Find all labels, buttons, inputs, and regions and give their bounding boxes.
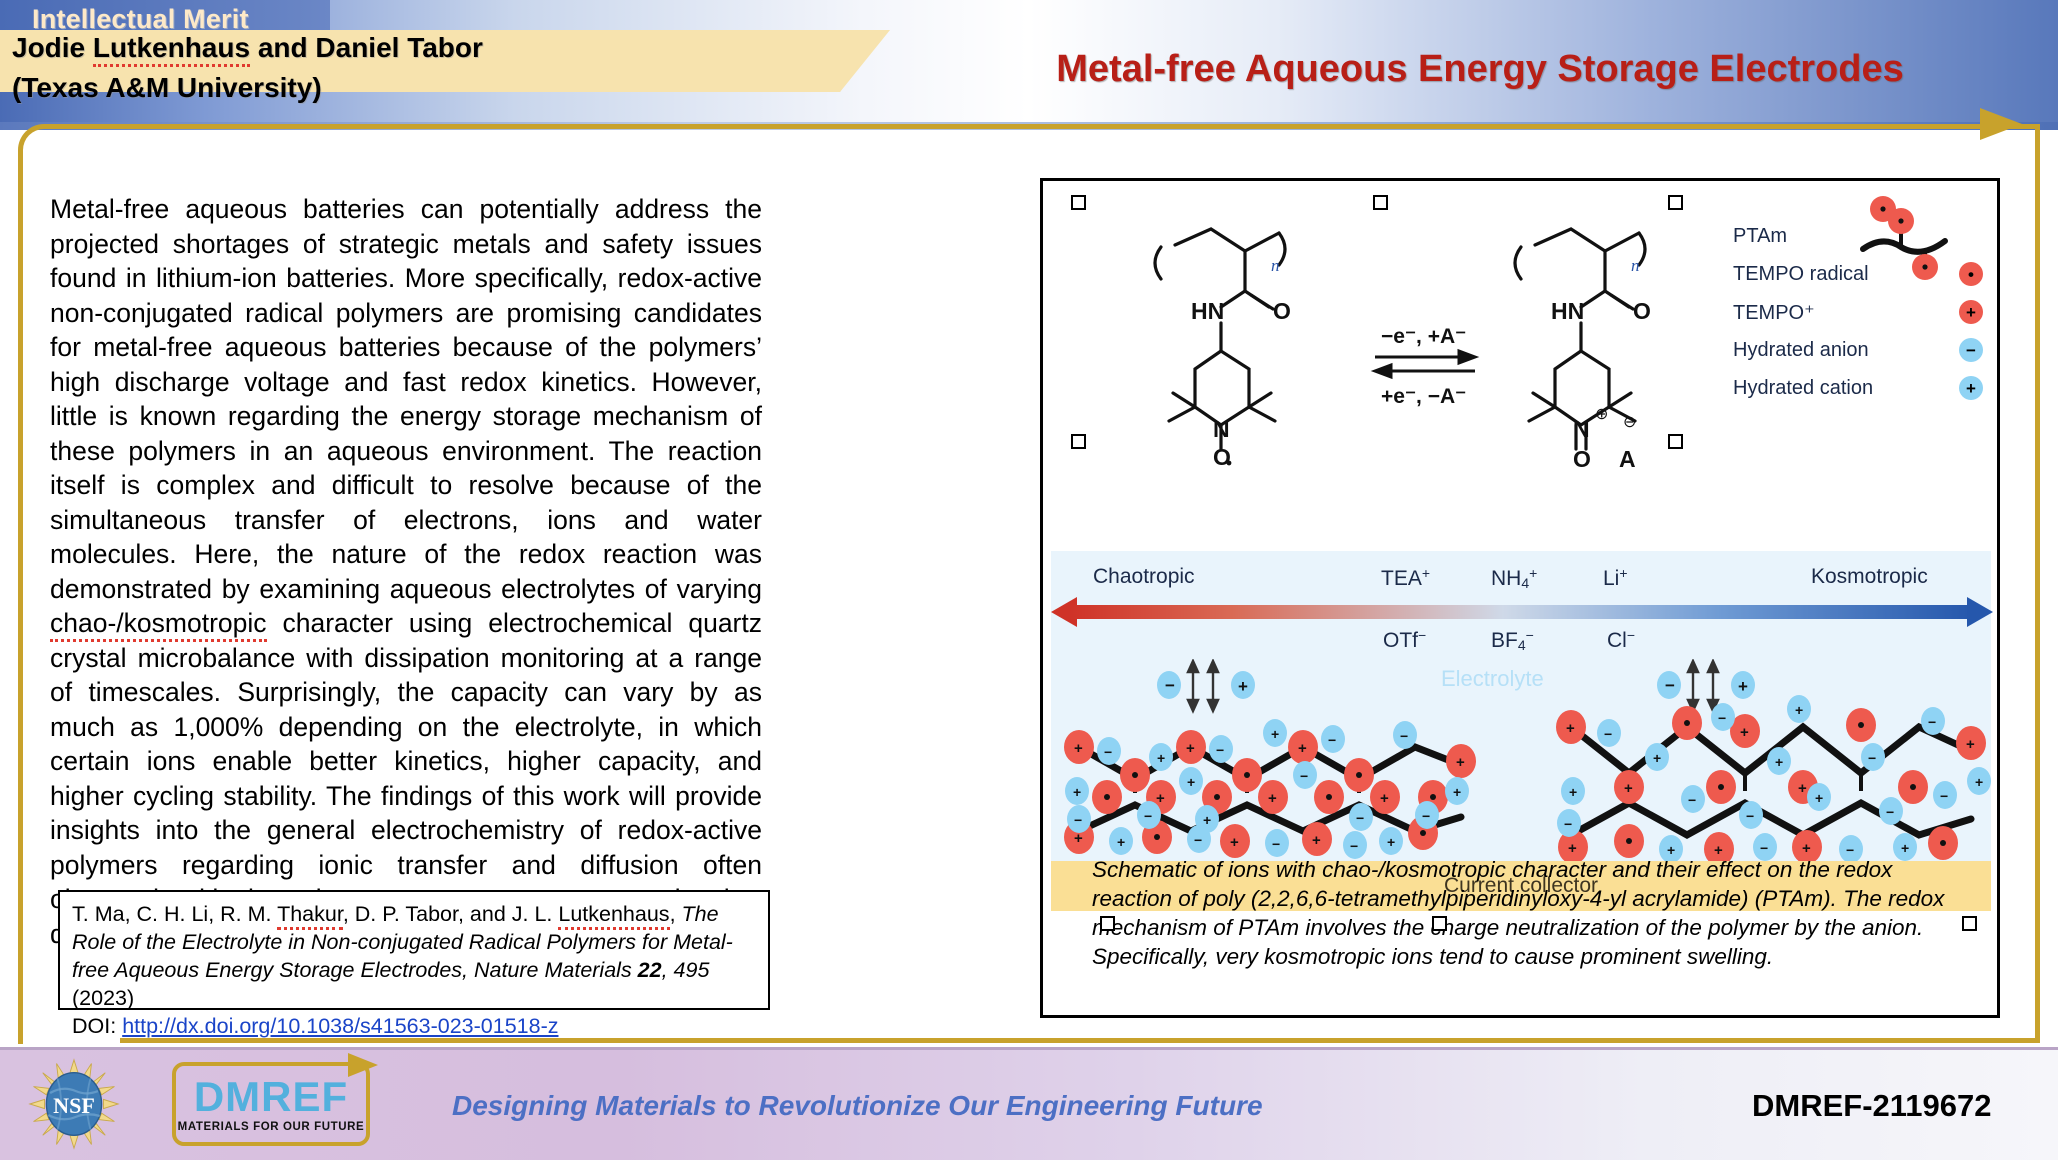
svg-text:+: +: [1156, 790, 1165, 807]
legend-label-hydrated-cation: Hydrated cation: [1733, 377, 1873, 400]
svg-text:−: −: [1760, 840, 1768, 856]
svg-text:O: O: [1213, 444, 1231, 470]
caption-handle-right[interactable]: [1962, 916, 1977, 931]
nsf-logo-icon: NSF: [28, 1058, 120, 1150]
caption-handle-center[interactable]: [1432, 916, 1447, 931]
cation-li: Li+: [1603, 565, 1628, 591]
svg-text:−: −: [1074, 812, 1082, 828]
svg-text:O: O: [1633, 298, 1651, 324]
svg-text:+: +: [1566, 720, 1575, 737]
legend-item-hydrated-cation: Hydrated cation +: [1733, 369, 1983, 407]
svg-text:+: +: [1073, 784, 1081, 800]
svg-text:+: +: [1798, 780, 1807, 797]
cation-tea: TEA+: [1381, 565, 1430, 591]
svg-text:HN: HN: [1551, 298, 1584, 324]
svg-text:+: +: [1795, 702, 1803, 718]
svg-text:+: +: [1387, 834, 1395, 850]
svg-text:−: −: [1688, 792, 1696, 808]
doi-link[interactable]: http://dx.doi.org/10.1038/s41563-023-015…: [122, 1014, 558, 1038]
svg-text:−: −: [1746, 808, 1754, 824]
kosmotropic-arrowhead-icon: [1967, 597, 1993, 627]
polymer-film-kosmotropic: + + + + + + + + − −: [1551, 691, 1991, 866]
svg-text:−: −: [1564, 816, 1572, 832]
svg-text:−: −: [1216, 742, 1224, 758]
svg-text:−: −: [1604, 726, 1612, 742]
figure-caption: Schematic of ions with chao-/kosmotropic…: [1092, 855, 1972, 971]
dmref-arrow-icon: [348, 1053, 378, 1077]
frame-arrow-icon: [1980, 108, 2022, 140]
svg-text:+: +: [1230, 834, 1239, 851]
legend-item-hydrated-anion: Hydrated anion −: [1733, 331, 1983, 369]
svg-text:n: n: [1271, 256, 1280, 275]
svg-text:−: −: [1940, 788, 1948, 804]
svg-text:NSF: NSF: [53, 1093, 95, 1118]
legend-label-hydrated-anion: Hydrated anion: [1733, 339, 1869, 362]
svg-text:O: O: [1573, 446, 1591, 471]
abstract-paragraph: Metal-free aqueous batteries can potenti…: [50, 192, 762, 951]
legend-label-tempo-cation: TEMPO⁺: [1733, 300, 1815, 325]
svg-text:+: +: [1268, 790, 1277, 807]
svg-text:+: +: [1238, 677, 1248, 696]
svg-text:−: −: [1400, 728, 1408, 744]
svg-text:−: −: [1104, 744, 1112, 760]
footer-divider: [0, 1047, 2058, 1050]
svg-text:+: +: [1815, 790, 1823, 806]
svg-text:+: +: [1975, 774, 1983, 790]
svg-text:+: +: [1453, 784, 1461, 800]
svg-text:−: −: [1272, 836, 1280, 852]
caption-handle-left[interactable]: [1100, 916, 1115, 931]
dmref-logo: DMREF MATERIALS FOR OUR FUTURE: [172, 1062, 370, 1146]
svg-text:−: −: [1718, 710, 1726, 726]
svg-text:+: +: [1117, 834, 1125, 850]
anion-bf4: BF4−: [1491, 627, 1534, 653]
legend-item-tempo-cation: TEMPO⁺ +: [1733, 293, 1983, 331]
svg-text:−: −: [1350, 838, 1358, 854]
legend-item-ptam: PTAm: [1733, 217, 1983, 255]
svg-text:+: +: [1653, 750, 1661, 766]
svg-text:O: O: [1273, 298, 1291, 324]
svg-text:+: +: [1775, 754, 1783, 770]
svg-text:+: +: [1186, 740, 1195, 757]
polymer-film-chaotropic: + + + + + + + + + +: [1061, 713, 1481, 863]
svg-text:N: N: [1573, 416, 1590, 442]
svg-text:+: +: [1740, 724, 1749, 741]
svg-text:⊖: ⊖: [1623, 414, 1636, 431]
cation-nh4: NH4+: [1491, 565, 1537, 591]
svg-text:N: N: [1213, 416, 1230, 442]
chaotropic-axis: Chaotropic Kosmotropic TEA+ NH4+ Li+ OTf…: [1051, 561, 1991, 647]
svg-text:+: +: [1203, 812, 1211, 828]
red-radical-dot-icon: •: [1959, 262, 1983, 286]
dmref-wordmark: DMREF: [194, 1076, 348, 1118]
svg-text:−: −: [1356, 810, 1364, 826]
svg-text:−: −: [1886, 804, 1894, 820]
figure-legend: PTAm TEMPO radical • TEMPO⁺ + Hydr: [1733, 217, 1983, 407]
svg-text:+: +: [1157, 750, 1165, 766]
svg-text:−: −: [1328, 732, 1336, 748]
svg-text:n: n: [1631, 256, 1640, 275]
svg-text:−: −: [1300, 768, 1308, 784]
author-affiliation-line2: (Texas A&M University): [12, 72, 322, 104]
legend-label-ptam: PTAm: [1733, 225, 1787, 248]
selection-handle-mid-left[interactable]: [1071, 434, 1086, 449]
kosmotropic-label: Kosmotropic: [1811, 565, 1928, 589]
svg-text:−: −: [1868, 750, 1876, 766]
svg-text:−: −: [1928, 714, 1936, 730]
svg-text:−: −: [1194, 832, 1202, 848]
content-frame-right: [2035, 124, 2040, 1042]
svg-text:+: +: [1074, 740, 1083, 757]
chao-kosmo-gradient-bar: [1069, 605, 1973, 619]
svg-text:A: A: [1619, 446, 1636, 471]
selection-handle-top-left[interactable]: [1071, 195, 1086, 210]
svg-text:+: +: [1966, 736, 1975, 753]
doi-line: DOI: http://dx.doi.org/10.1038/s41563-02…: [72, 1012, 758, 1040]
svg-text:+: +: [1901, 840, 1909, 856]
footer-slogan: Designing Materials to Revolutionize Our…: [452, 1090, 1263, 1122]
svg-text:+: +: [1456, 754, 1465, 771]
caption-rest: reaction of poly (2,2,6,6-tetramethylpip…: [1092, 886, 1944, 969]
svg-text:+: +: [1624, 780, 1633, 797]
redox-scheme-diagram: n HN O N O −e⁻, +A⁻ +e⁻, −A⁻: [1103, 211, 1723, 471]
svg-text:−e⁻, +A⁻: −e⁻, +A⁻: [1381, 325, 1466, 348]
electrolyte-label: Electrolyte: [1441, 666, 1544, 692]
svg-text:+: +: [1187, 774, 1195, 790]
svg-text:+: +: [1298, 740, 1307, 757]
dmref-tagline: MATERIALS FOR OUR FUTURE: [178, 1121, 365, 1133]
svg-text:−: −: [1165, 676, 1175, 695]
blue-minus-dot-icon: −: [1959, 338, 1983, 362]
author-name-line1: Jodie Lutkenhaus and Daniel Tabor: [12, 32, 483, 64]
page-title: Metal-free Aqueous Energy Storage Electr…: [950, 48, 2010, 91]
red-plus-dot-icon: +: [1959, 300, 1983, 324]
selection-handle-top-center[interactable]: [1373, 195, 1388, 210]
blue-plus-dot-icon: +: [1959, 376, 1983, 400]
svg-text:+: +: [1271, 726, 1279, 742]
grant-number: DMREF-2119672: [1752, 1088, 1992, 1124]
citation-text: T. Ma, C. H. Li, R. M. Thakur, D. P. Tab…: [72, 900, 758, 1012]
anion-cl: Cl−: [1607, 627, 1635, 653]
svg-text:+: +: [1380, 790, 1389, 807]
selection-handle-top-right[interactable]: [1668, 195, 1683, 210]
ion-diffusion-arrows-left: − +: [1151, 659, 1271, 715]
svg-text:−: −: [1422, 808, 1430, 824]
svg-text:−: −: [1144, 808, 1152, 824]
caption-line1: Schematic of ions with chao-/kosmotropic…: [1092, 857, 1892, 882]
svg-text:+: +: [1312, 832, 1321, 849]
svg-text:+: +: [1569, 784, 1577, 800]
electrolyte-schematic: Chaotropic Kosmotropic TEA+ NH4+ Li+ OTf…: [1051, 551, 1991, 861]
doi-label: DOI:: [72, 1014, 116, 1038]
svg-text:⊕: ⊕: [1595, 406, 1608, 423]
svg-text:HN: HN: [1191, 298, 1224, 324]
anion-otf: OTf−: [1383, 627, 1426, 653]
chaotropic-label: Chaotropic: [1093, 565, 1195, 589]
citation-box: T. Ma, C. H. Li, R. M. Thakur, D. P. Tab…: [58, 890, 770, 1010]
svg-text:+e⁻, −A⁻: +e⁻, −A⁻: [1381, 385, 1466, 408]
